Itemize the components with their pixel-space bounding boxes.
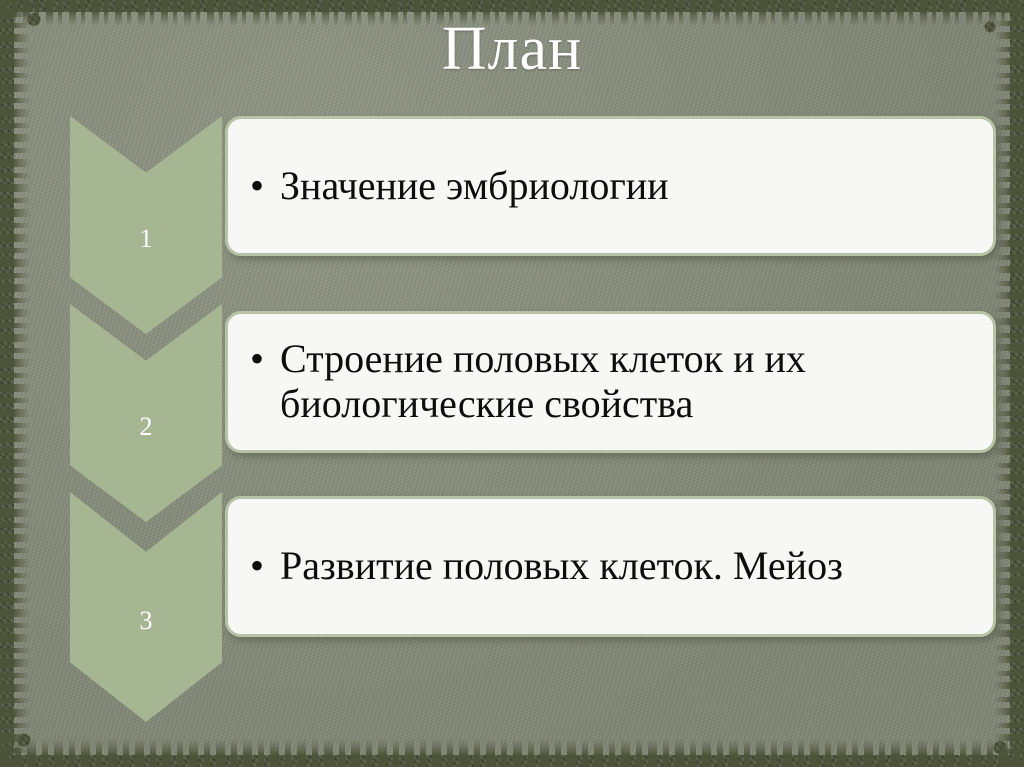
plan-item-content-2: • Строение половых клеток и их биологиче… [228,337,993,427]
bullet-icon-1: • [250,164,280,209]
plan-item-text-2: Строение половых клеток и их биологическ… [280,337,975,427]
plan-item-content-3: • Развитие половых клеток. Мейоз [228,544,861,589]
slide-title: План [0,14,1024,85]
bullet-icon-3: • [250,544,280,589]
bullet-icon-2: • [250,337,280,382]
plan-item-text-1: Значение эмбриологии [280,164,669,209]
slide-canvas: План 1 • Значение эмбриологии 2 • Строен… [0,0,1024,767]
plan-item-box-3: • Развитие половых клеток. Мейоз [225,496,996,637]
plan-item-text-3: Развитие половых клеток. Мейоз [280,544,843,589]
step-number-2: 2 [140,412,153,442]
plan-item-box-1: • Значение эмбриологии [225,116,996,256]
plan-item-content-1: • Значение эмбриологии [228,164,687,209]
step-number-3: 3 [140,606,153,636]
step-number-1: 1 [140,224,153,254]
plan-item-box-2: • Строение половых клеток и их биологиче… [225,311,996,453]
